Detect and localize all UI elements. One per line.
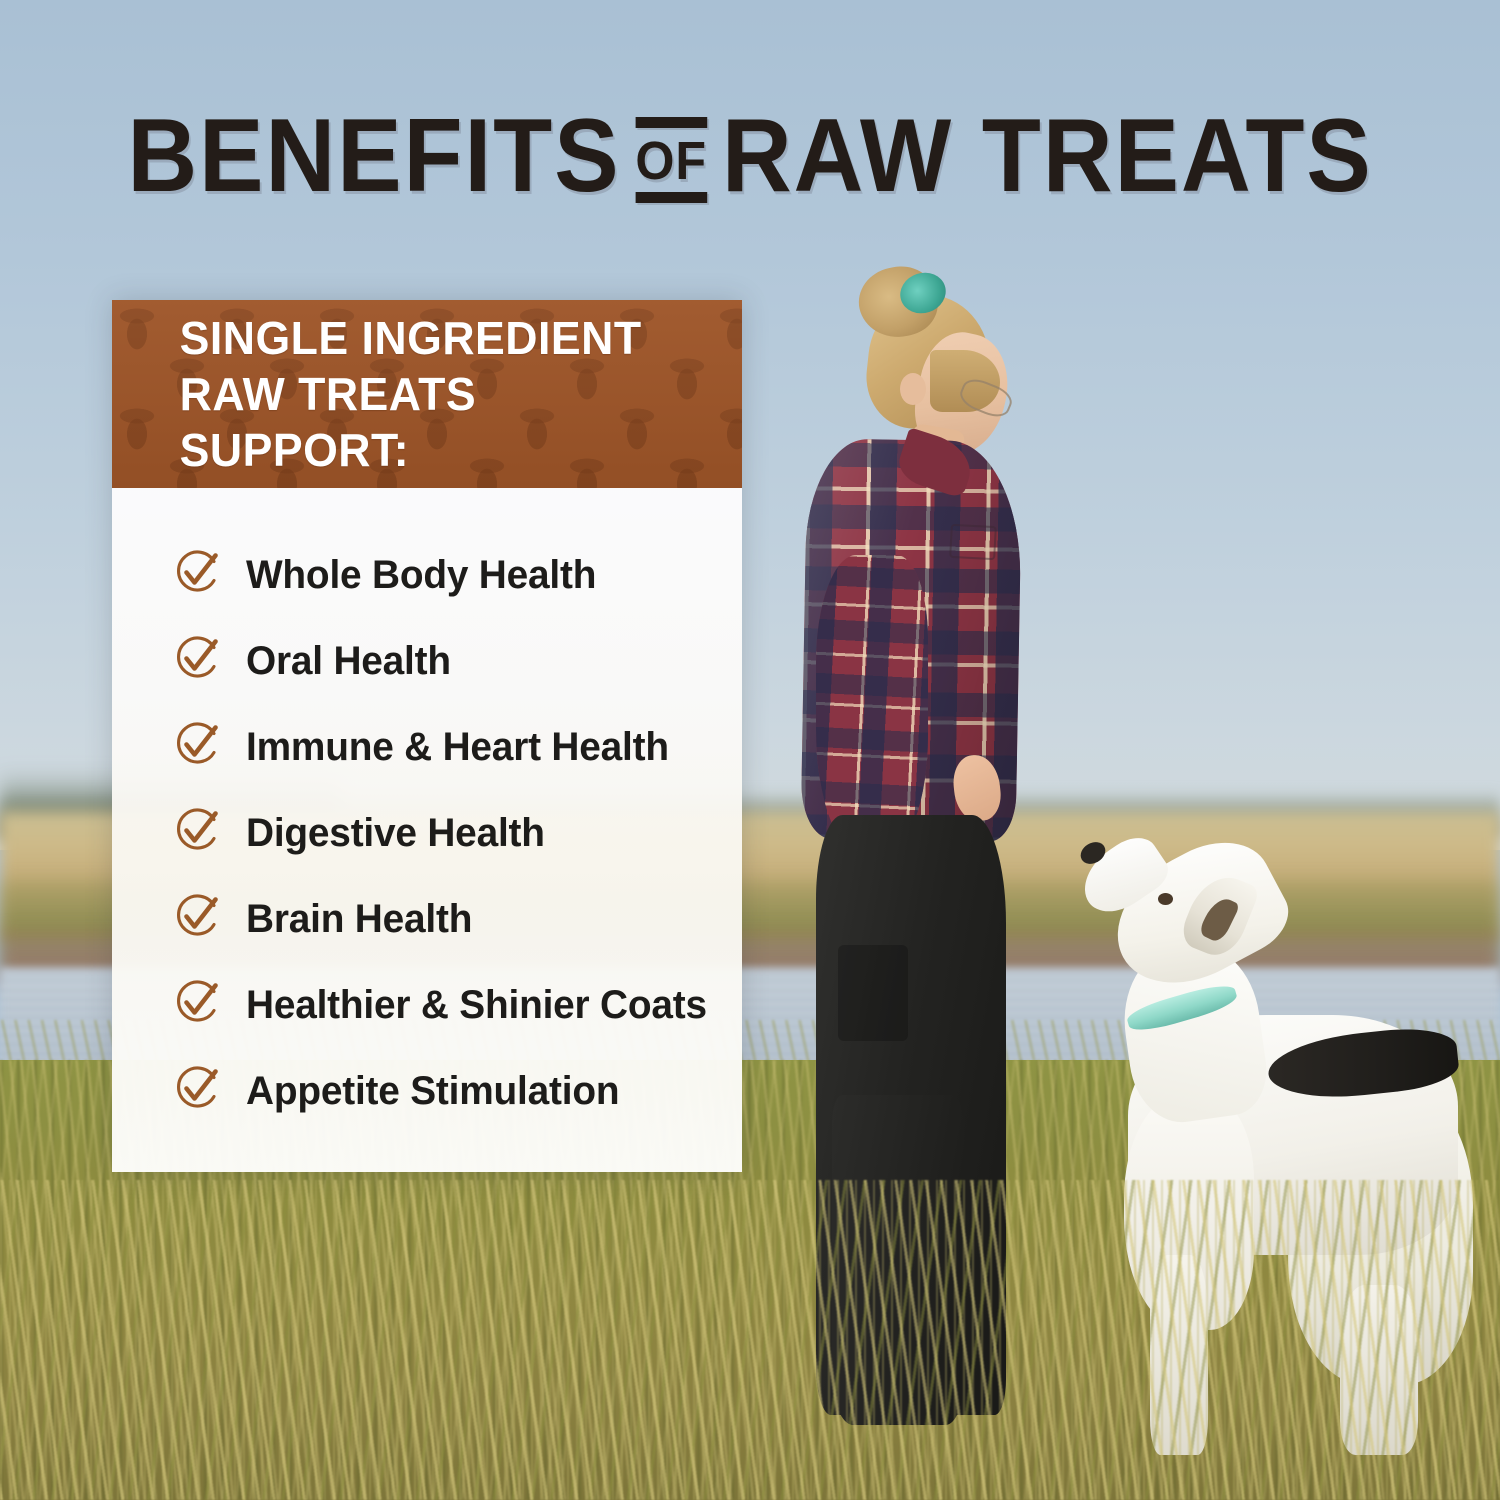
benefit-label: Appetite Stimulation <box>246 1069 619 1113</box>
title-word-raw-treats: RAW TREATS <box>722 104 1373 208</box>
check-circle-icon <box>174 636 220 682</box>
list-item: Healthier & Shinier Coats <box>174 962 712 1048</box>
check-circle-icon <box>174 894 220 940</box>
benefits-list: Whole Body Health Oral Health <box>112 488 742 1172</box>
pants-pocket <box>838 945 908 1041</box>
shirt-pocket <box>949 524 997 560</box>
ear <box>900 373 926 405</box>
dog-figure <box>1040 855 1470 1455</box>
title-connector-of: OF <box>635 117 707 203</box>
infographic-stage: BENEFITSOFRAW TREATS SINGLE INGREDIENT R… <box>0 0 1500 1500</box>
benefit-label: Whole Body Health <box>246 553 596 597</box>
title-word-benefits: BENEFITS <box>127 104 620 208</box>
card-header-line-2: RAW TREATS SUPPORT: <box>180 366 700 478</box>
card-header-line-1: SINGLE INGREDIENT <box>180 310 700 366</box>
check-circle-icon <box>174 550 220 596</box>
benefits-card: SINGLE INGREDIENT RAW TREATS SUPPORT: Wh… <box>112 300 742 1172</box>
pants-leg <box>832 1095 964 1425</box>
arm <box>816 555 928 855</box>
list-item: Appetite Stimulation <box>174 1048 712 1134</box>
check-circle-icon <box>174 980 220 1026</box>
list-item: Digestive Health <box>174 790 712 876</box>
benefit-label: Brain Health <box>246 897 472 941</box>
dog-hind-leg <box>1340 1285 1418 1455</box>
card-header-banner: SINGLE INGREDIENT RAW TREATS SUPPORT: <box>112 300 742 488</box>
of-bottom-bar <box>635 192 707 203</box>
benefit-label: Oral Health <box>246 639 451 683</box>
dog-front-leg <box>1150 1255 1208 1455</box>
of-label: OF <box>635 128 707 192</box>
check-circle-icon <box>174 1066 220 1112</box>
benefit-label: Digestive Health <box>246 811 545 855</box>
check-circle-icon <box>174 722 220 768</box>
check-circle-icon <box>174 808 220 854</box>
dog-eye <box>1158 893 1173 905</box>
card-header-text: SINGLE INGREDIENT RAW TREATS SUPPORT: <box>121 310 732 478</box>
list-item: Whole Body Health <box>174 532 712 618</box>
list-item: Oral Health <box>174 618 712 704</box>
page-title: BENEFITSOFRAW TREATS <box>53 96 1448 208</box>
benefit-label: Immune & Heart Health <box>246 725 669 769</box>
of-top-bar <box>635 117 707 128</box>
list-item: Immune & Heart Health <box>174 704 712 790</box>
list-item: Brain Health <box>174 876 712 962</box>
benefit-label: Healthier & Shinier Coats <box>246 983 707 1027</box>
